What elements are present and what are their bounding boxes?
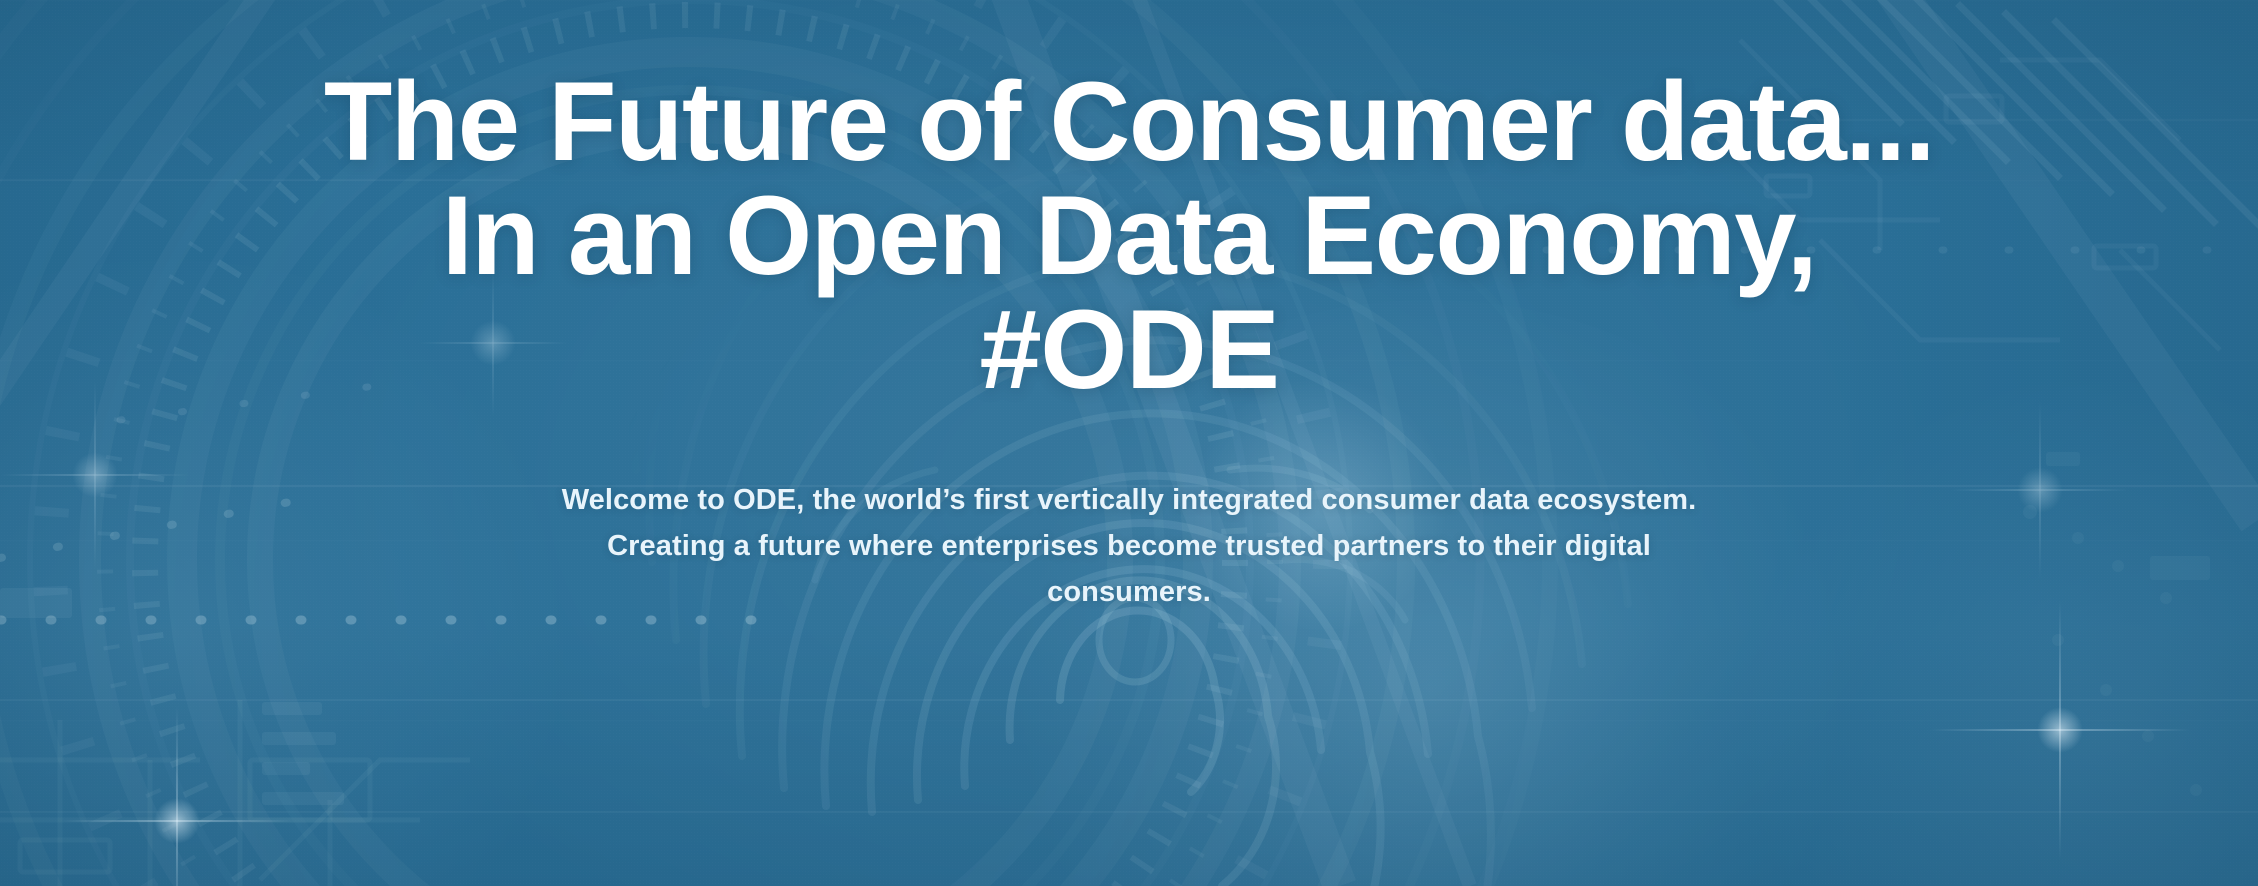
headline-line-2: In an Open Data Economy, [14,180,2244,292]
hero-subcopy: Welcome to ODE, the world’s first vertic… [529,478,1729,615]
headline-line-3: #ODE [14,294,2244,406]
page-title: The Future of Consumer data... In an Ope… [14,66,2244,406]
subcopy-line-2: Creating a future where enterprises beco… [529,524,1729,570]
headline-line-1: The Future of Consumer data... [14,66,2244,178]
hero-banner: The Future of Consumer data... In an Ope… [0,0,2258,886]
hero-content: The Future of Consumer data... In an Ope… [0,0,2258,886]
subcopy-line-1: Welcome to ODE, the world’s first vertic… [529,478,1729,524]
subcopy-line-3: consumers. [529,570,1729,616]
